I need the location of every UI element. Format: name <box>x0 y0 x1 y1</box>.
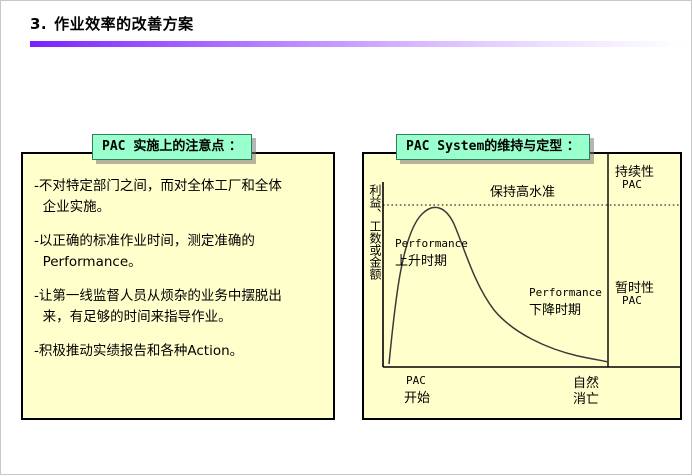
title-text: 作业效率的改善方案 <box>54 15 194 33</box>
left-panel-heading: PAC 实施上的注意点 ： <box>92 134 252 160</box>
right-panel-heading-chip: PAC System的维持与定型 ： <box>396 134 590 160</box>
left-panel-body: -不对特定部门之间，而对全体工厂和全体 企业实施。 -以正确的标准作业时间，测定… <box>34 176 326 374</box>
list-item: -让第一线监督人员从烦杂的业务中摆脱出 来，有足够的时间来指导作业。 <box>34 286 326 328</box>
list-item: -以正确的标准作业时间，测定准确的 Performance。 <box>34 231 326 273</box>
list-item: -不对特定部门之间，而对全体工厂和全体 企业实施。 <box>34 176 326 218</box>
right-heading-cjk: 的维持与定型 ： <box>484 139 580 154</box>
right-panel <box>362 152 682 420</box>
slide-canvas: 3.作业效率的改善方案 PAC 实施上的注意点 ： -不对特定部门之间，而对全体… <box>0 0 693 476</box>
left-heading-latin: PAC <box>102 139 125 154</box>
list-item: -积极推动实绩报告和各种Action。 <box>34 341 326 362</box>
title-number: 3. <box>30 15 47 33</box>
left-panel-heading-chip: PAC 实施上的注意点 ： <box>92 134 252 160</box>
right-heading-latin: PAC System <box>406 139 484 154</box>
right-panel-heading: PAC System的维持与定型 ： <box>396 134 590 160</box>
page-title: 3.作业效率的改善方案 <box>30 13 194 34</box>
title-underline-gradient <box>30 41 685 47</box>
left-heading-cjk: 实施上的注意点 ： <box>133 139 242 154</box>
